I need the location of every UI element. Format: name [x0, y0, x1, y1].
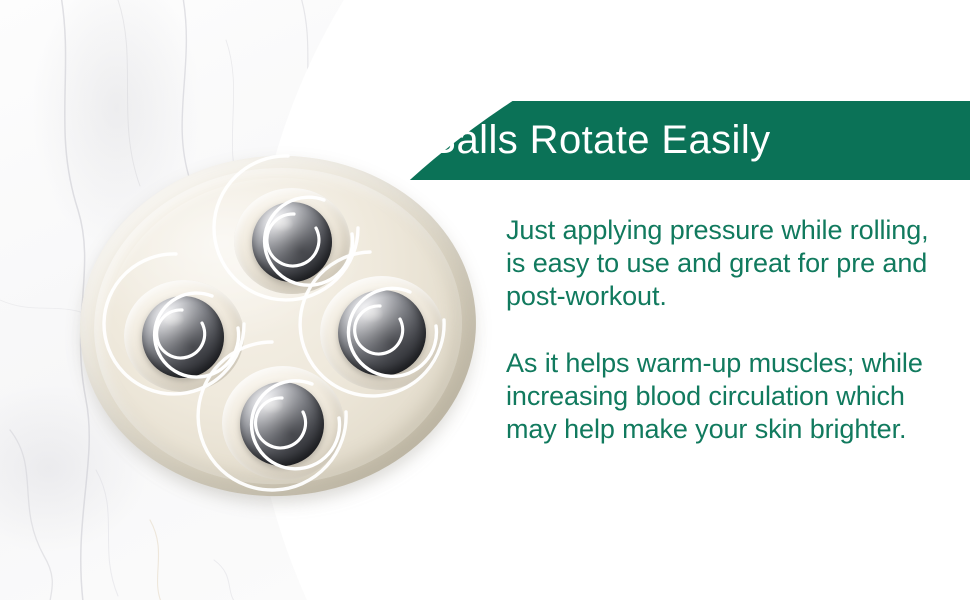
copy-paragraph-2: As it helps warm-up muscles; while incre…: [506, 347, 954, 446]
roller-ball-right-shade: [338, 290, 426, 376]
copy-paragraph-1: Just applying pressure while rolling, is…: [506, 214, 954, 313]
heading-banner: Balls Rotate Easily: [0, 101, 970, 180]
heading-banner-title: Balls Rotate Easily: [0, 101, 970, 180]
roller-ball-bottom-shade: [240, 382, 324, 466]
roller-ball-top-shade: [252, 202, 332, 282]
marketing-copy: Just applying pressure while rolling, is…: [506, 214, 954, 446]
roller-ball-left-shade: [142, 296, 224, 378]
product-image-roller-massager: [72, 150, 484, 502]
promo-banner-image: Balls Rotate Easily Just applying pressu…: [0, 0, 970, 600]
